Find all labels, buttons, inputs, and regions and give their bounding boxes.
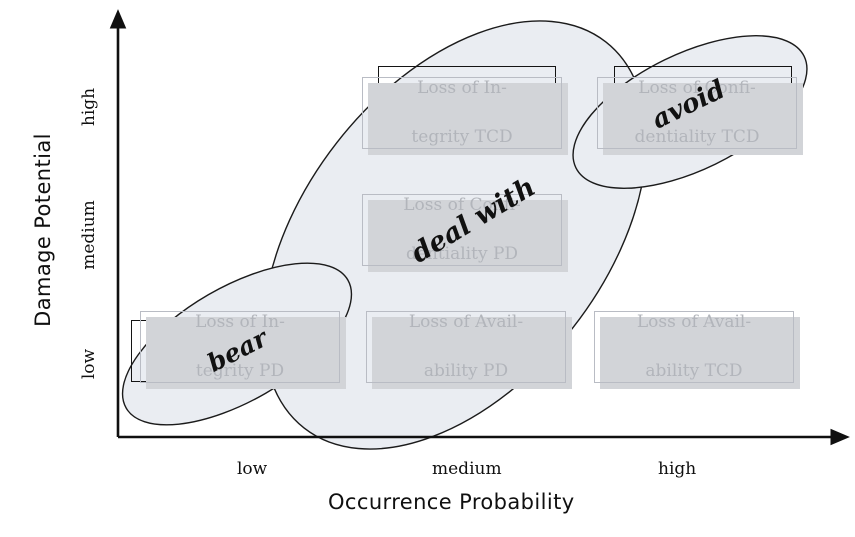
cell-label-line2: ability PD bbox=[409, 359, 523, 384]
cell-label-line1: Loss of Avail- bbox=[637, 310, 751, 335]
y-axis-tick-low: low bbox=[79, 329, 99, 399]
cell-label-line1: Loss of Avail- bbox=[409, 310, 523, 335]
cell-label-line1: Loss of In- bbox=[411, 76, 512, 101]
y-axis-tick-medium: medium bbox=[79, 200, 99, 270]
risk-cell-loss-of-availability-tcd[interactable]: Loss of Avail- ability TCD bbox=[594, 311, 794, 383]
x-axis-tick-high: high bbox=[658, 459, 696, 479]
cell-panel: Loss of Avail- ability TCD bbox=[594, 311, 794, 383]
cell-label-line2: tegrity TCD bbox=[411, 125, 512, 150]
cell-label-line2: dentiality TCD bbox=[635, 125, 760, 150]
risk-cell-loss-of-integrity-tcd[interactable]: Loss of In- tegrity TCD bbox=[362, 77, 562, 149]
x-axis-tick-low: low bbox=[237, 459, 267, 479]
cell-label-line1: Loss of In- bbox=[195, 310, 285, 335]
y-axis-title: Damage Potential bbox=[31, 125, 55, 335]
x-axis-title: Occurrence Probability bbox=[328, 490, 575, 514]
risk-matrix-diagram: Loss of In- tegrity TCD Loss of Confi- d… bbox=[0, 0, 855, 537]
y-axis-tick-high: high bbox=[79, 72, 99, 142]
cell-panel: Loss of In- tegrity TCD bbox=[362, 77, 562, 149]
risk-cell-loss-of-availability-pd[interactable]: Loss of Avail- ability PD bbox=[366, 311, 566, 383]
cell-panel: Loss of Avail- ability PD bbox=[366, 311, 566, 383]
x-axis-tick-medium: medium bbox=[432, 459, 502, 479]
cell-label-line2: ability TCD bbox=[637, 359, 751, 384]
